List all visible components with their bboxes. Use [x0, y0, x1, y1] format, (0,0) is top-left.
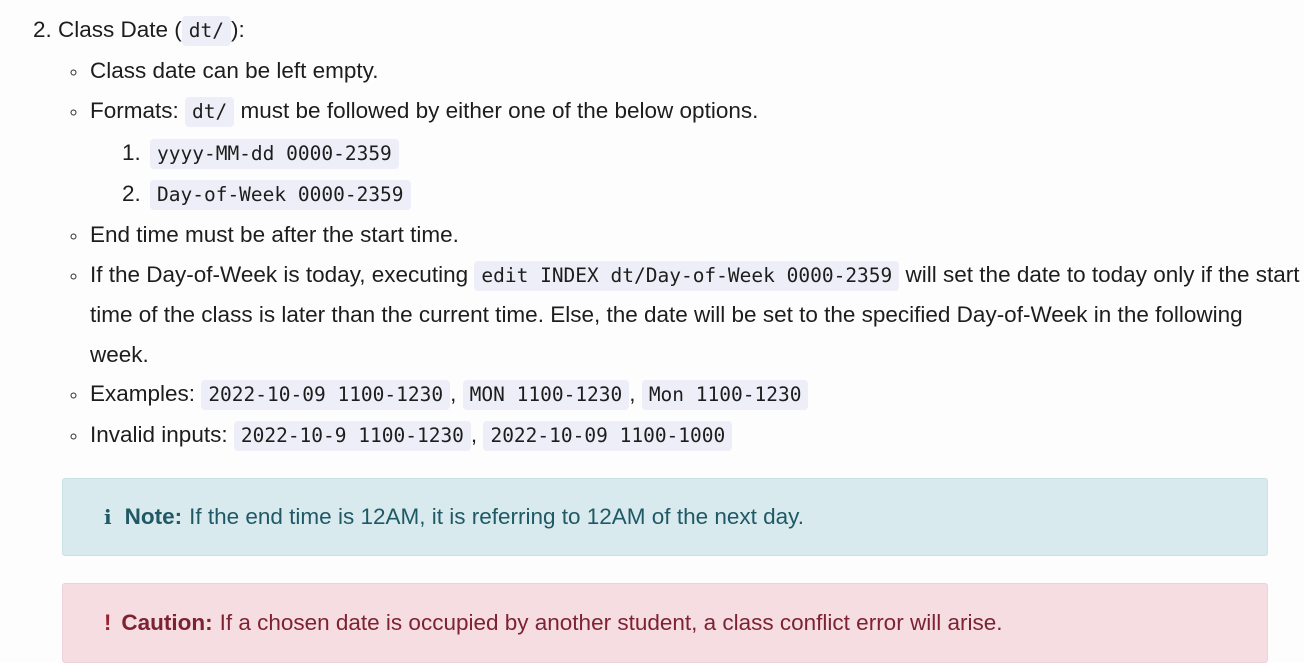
list-item-format-option: Day-of-Week 0000-2359 [147, 174, 1304, 215]
list-item-end-time-rule: End time must be after the start time. [88, 215, 1304, 255]
example-code: MON 1100-1230 [463, 380, 630, 410]
document-page: Class Date (dt/): Class date can be left… [0, 0, 1304, 654]
invalid-separator: , [471, 422, 477, 447]
top-level-list: Class Date (dt/): Class date can be left… [0, 11, 1304, 455]
list-item-formats: Formats: dt/ must be followed by either … [88, 91, 1304, 215]
caution-text: If a chosen date is occupied by another … [220, 608, 1003, 638]
examples-label: Examples: [90, 381, 195, 406]
example-code: Mon 1100-1230 [642, 380, 809, 410]
today-rule-prefix: If the Day-of-Week is today, executing [90, 262, 468, 287]
section-title-suffix: ): [231, 17, 245, 42]
invalid-inputs-label: Invalid inputs: [90, 422, 228, 447]
rules-list: Class date can be left empty. Formats: d… [58, 51, 1304, 455]
caution-label: Caution: [121, 608, 212, 638]
format-options-list: yyyy-MM-dd 0000-2359 Day-of-Week 0000-23… [90, 133, 1304, 214]
note-text: If the end time is 12AM, it is referring… [189, 502, 804, 532]
info-icon: i [104, 502, 112, 532]
invalid-input-code: 2022-10-09 1100-1000 [483, 421, 732, 451]
list-item-today-rule: If the Day-of-Week is today, executing e… [88, 255, 1304, 375]
list-item-invalid-inputs: Invalid inputs: 2022-10-9 1100-1230, 202… [88, 415, 1304, 456]
list-item-class-date: Class Date (dt/): Class date can be left… [58, 11, 1304, 455]
format-option-code: yyyy-MM-dd 0000-2359 [150, 139, 399, 169]
exclamation-icon: ! [104, 608, 111, 638]
formats-suffix: must be followed by either one of the be… [241, 98, 759, 123]
end-time-rule-text: End time must be after the start time. [90, 222, 459, 247]
section-title-code: dt/ [182, 16, 231, 46]
list-item-format-option: yyyy-MM-dd 0000-2359 [147, 133, 1304, 174]
formats-code: dt/ [185, 97, 234, 127]
note-callout: i Note: If the end time is 12AM, it is r… [62, 478, 1268, 556]
list-item-examples: Examples: 2022-10-09 1100-1230, MON 1100… [88, 374, 1304, 415]
invalid-input-code: 2022-10-9 1100-1230 [234, 421, 471, 451]
list-item-empty-rule: Class date can be left empty. [88, 51, 1304, 91]
empty-rule-text: Class date can be left empty. [90, 58, 378, 83]
examples-separator: , [450, 381, 456, 406]
today-rule-code: edit INDEX dt/Day-of-Week 0000-2359 [474, 261, 899, 291]
caution-callout: ! Caution: If a chosen date is occupied … [62, 583, 1268, 663]
format-option-code: Day-of-Week 0000-2359 [150, 180, 411, 210]
formats-prefix: Formats: [90, 98, 179, 123]
section-title-prefix: Class Date ( [58, 17, 182, 42]
examples-separator: , [629, 381, 635, 406]
example-code: 2022-10-09 1100-1230 [201, 380, 450, 410]
note-label: Note: [125, 502, 183, 532]
